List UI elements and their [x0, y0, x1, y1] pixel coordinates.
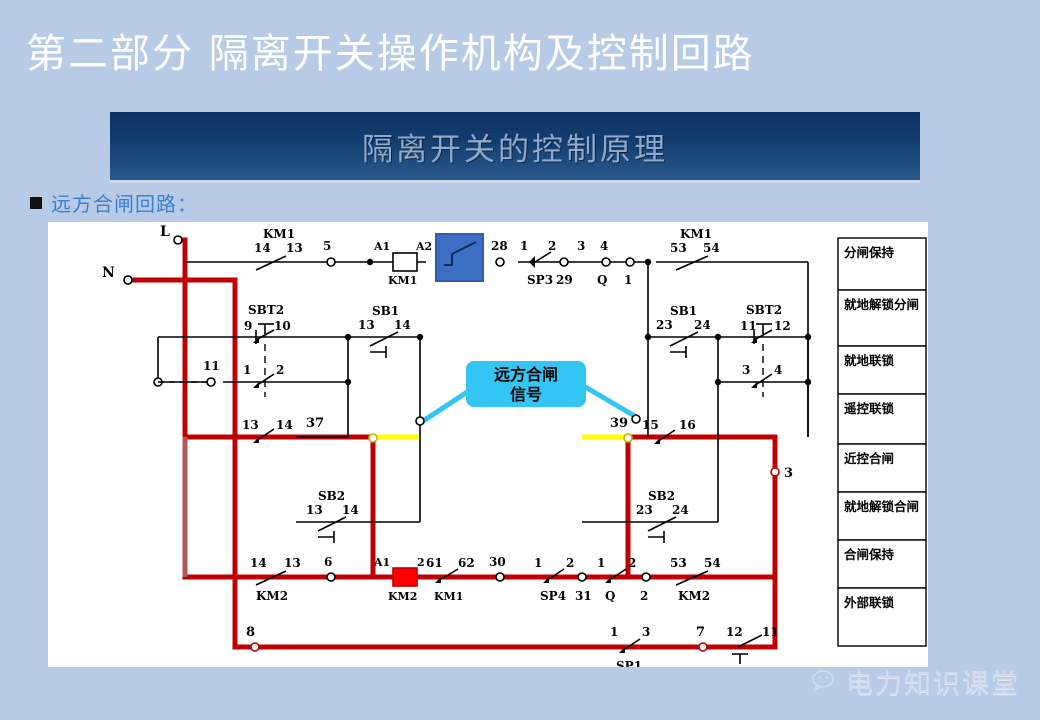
label-11-left: 11 [203, 359, 220, 373]
junction-i [715, 379, 721, 385]
sb1-left-n14: 14 [394, 318, 411, 332]
junction-f [645, 334, 651, 340]
sb3-n11: 11 [762, 625, 779, 639]
coil-km1 [393, 253, 417, 271]
sw12-left-n1: 1 [243, 363, 251, 377]
sb2-left-device: SB2 [318, 489, 345, 503]
km2-right-n53: 53 [670, 556, 687, 570]
node-8 [251, 643, 259, 651]
switch-sp3: 1 2 SP3 [520, 239, 556, 287]
label-1-row1: 1 [624, 273, 632, 287]
coil-km1-label: KM1 [388, 274, 417, 287]
sb3-n12: 12 [726, 625, 743, 639]
bullet-row: 远方合闸回路： [30, 188, 198, 217]
node-37 [369, 434, 377, 442]
legend-box-label: 分闸保持 [844, 245, 895, 260]
km2-right-n54: 54 [704, 556, 721, 570]
km1-row1-device: KM1 [263, 227, 295, 241]
sbt2-right-n11: 11 [740, 319, 757, 333]
sp4-device: SP4 [540, 589, 566, 603]
coil-km1-a1: A1 [373, 240, 390, 253]
sb3-device: SB3 [732, 665, 759, 667]
sw1516-n16: 16 [679, 418, 696, 432]
junction-g [715, 334, 721, 340]
node-q-left [602, 258, 610, 266]
switch-1516-right: 15 16 [642, 418, 696, 444]
label-4-row1: 4 [600, 239, 608, 253]
node-11 [207, 378, 215, 386]
label-3-row1: 3 [577, 239, 585, 253]
sb1-left-device: SB1 [372, 304, 399, 318]
switch-sb2-left: 13 14 SB2 [306, 489, 359, 543]
switch-12-left: 1 2 [243, 363, 284, 388]
node-7 [699, 643, 707, 651]
bullet-square-icon [30, 197, 42, 209]
sb2-right-device: SB2 [648, 489, 675, 503]
q-bottom-n1: 1 [597, 556, 605, 570]
node-q-right [626, 258, 634, 266]
sbt2-right-device: SBT2 [746, 303, 782, 317]
sb1-left-n13: 13 [358, 318, 375, 332]
circuit-schematic: L N 14 13 KM1 5 A1 A2 KM1 28 [48, 222, 928, 667]
coil-km1-a2: A2 [415, 240, 432, 253]
node-29 [560, 258, 568, 266]
sb2-right-n24: 24 [672, 503, 689, 517]
label-7: 7 [696, 625, 705, 640]
junction-d [417, 334, 423, 340]
legend-box-label: 遥控联锁 [844, 401, 895, 416]
sb2-left-n14: 14 [342, 503, 359, 517]
switch-sb1-right: 23 24 SB1 [656, 304, 711, 358]
sbt2-left-device: SBT2 [248, 303, 284, 317]
coil-km2 [393, 568, 417, 586]
km1-right-device: KM1 [680, 227, 712, 241]
section-banner-title: 隔离开关的控制原理 [110, 112, 920, 180]
switch-sbt2-left: 9 10 SBT2 [244, 303, 291, 397]
legend-box-label: 就地联锁 [844, 353, 895, 368]
sw1516-n15: 15 [642, 418, 659, 432]
wechat-icon [812, 669, 842, 695]
sbt2-right-n12: 12 [774, 319, 791, 333]
junction-a [367, 259, 373, 265]
legend-box-label: 外部联锁 [843, 595, 895, 610]
sp1-device: SP1 [616, 659, 642, 667]
label-39: 39 [610, 416, 628, 431]
junction-j [805, 379, 811, 385]
sw12-left-n2: 2 [276, 363, 284, 377]
sp4-n1: 1 [534, 556, 542, 570]
bullet-label: 远方合闸回路： [51, 188, 198, 217]
coil-km2-a1: A1 [373, 556, 390, 569]
node-6 [327, 573, 335, 581]
km1-right-n54: 54 [703, 241, 720, 255]
label-28: 28 [491, 239, 508, 253]
label-8: 8 [246, 625, 255, 640]
q-bottom-device: Q [605, 589, 615, 603]
label-L: L [160, 224, 170, 240]
page-title: 第二部分 隔离开关操作机构及控制回路 [26, 24, 826, 84]
km1-row1-n13: 13 [286, 241, 303, 255]
slide-root: 第二部分 隔离开关操作机构及控制回路 隔离开关的控制原理 远方合闸回路： [0, 0, 1040, 720]
label-31: 31 [575, 589, 592, 603]
watermark-text: 电力知识课堂 [846, 662, 1020, 701]
sbt2-left-n10: 10 [274, 319, 291, 333]
blue-relay-block [436, 234, 483, 281]
node-right-3 [771, 468, 779, 476]
circuit-diagram-panel: L N 14 13 KM1 5 A1 A2 KM1 28 [48, 222, 928, 667]
watermark: 电力知识课堂 [812, 662, 1020, 701]
node-5 [327, 258, 335, 266]
label-q-row1: Q [597, 273, 607, 287]
node-39 [624, 434, 632, 442]
sp1-n1: 1 [610, 625, 618, 639]
label-5: 5 [323, 239, 331, 253]
node-q2-bottom [642, 573, 650, 581]
sp3-n2: 2 [548, 239, 556, 253]
km1-bottom-n62: 62 [458, 556, 475, 570]
junction-c [345, 334, 351, 340]
sp3-n1: 1 [520, 239, 528, 253]
km2-left-device: KM2 [256, 589, 288, 603]
node-callout-right [632, 415, 640, 423]
node-31 [578, 573, 586, 581]
terminal-N [124, 276, 132, 284]
sb1-right-n24: 24 [694, 318, 711, 332]
km1-bottom-device: KM1 [434, 590, 463, 603]
km2-right-device: KM2 [678, 589, 710, 603]
node-callout-left [416, 417, 424, 425]
switch-sbt2-right: 11 12 SBT2 [740, 303, 791, 397]
sbt2-left-n9: 9 [244, 319, 252, 333]
callout-line1: 远方合闸 [494, 365, 558, 384]
q-bottom-n2: 2 [628, 556, 636, 570]
sp4-n2: 2 [566, 556, 574, 570]
terminal-L [174, 236, 182, 244]
legend-box-label: 就地解锁分闸 [844, 297, 919, 312]
label-6: 6 [324, 555, 332, 569]
node-30 [496, 573, 504, 581]
km2-left-n14: 14 [250, 556, 267, 570]
legend-column: 分闸保持就地解锁分闸就地联锁遥控联锁近控合闸就地解锁合闸合闸保持外部联锁 [838, 238, 926, 646]
junction-h [805, 334, 811, 340]
node-28 [496, 258, 504, 266]
label-2-bottom: 2 [640, 589, 648, 603]
switch-sb1-left: 13 14 SB1 [358, 304, 411, 358]
sb2-left-n13: 13 [306, 503, 323, 517]
km2-left-n13: 13 [284, 556, 301, 570]
legend-box-label: 就地解锁合闸 [844, 499, 919, 514]
label-right-3: 3 [784, 466, 793, 481]
red-wire-network [135, 240, 775, 647]
coil-km2-a2: 2 [417, 556, 425, 569]
km1-right-n53: 53 [670, 241, 687, 255]
sb1-right-device: SB1 [670, 304, 697, 318]
sw34-n3: 3 [742, 363, 750, 377]
switch-sb2-right: 23 24 SB2 [636, 489, 689, 543]
sb1-right-n23: 23 [656, 318, 673, 332]
coil-km2-label: KM2 [388, 590, 417, 603]
label-29: 29 [556, 273, 573, 287]
legend-box-label: 近控合闸 [844, 451, 894, 466]
callout-line2: 信号 [510, 385, 542, 404]
junction-b [645, 259, 651, 265]
sw1314-left-n14: 14 [276, 418, 293, 432]
sb2-right-n23: 23 [636, 503, 653, 517]
label-37: 37 [306, 416, 324, 431]
sw1314-left-n13: 13 [242, 418, 259, 432]
legend-box-label: 合闸保持 [844, 547, 895, 562]
sp3-device: SP3 [527, 273, 553, 287]
label-N: N [102, 265, 115, 281]
sw34-n4: 4 [774, 363, 782, 377]
junction-e [345, 379, 351, 385]
sp1-n3: 3 [642, 625, 650, 639]
contact-km1-row1: 14 13 KM1 [254, 227, 303, 270]
label-30: 30 [489, 555, 506, 569]
section-banner: 隔离开关的控制原理 [110, 112, 920, 180]
black-wire-network [158, 248, 808, 577]
contact-km1-right: 53 54 KM1 [670, 227, 720, 270]
km1-row1-n14: 14 [254, 241, 271, 255]
km1-bottom-n61: 61 [426, 556, 443, 570]
switch-34-right: 3 4 [742, 363, 782, 388]
